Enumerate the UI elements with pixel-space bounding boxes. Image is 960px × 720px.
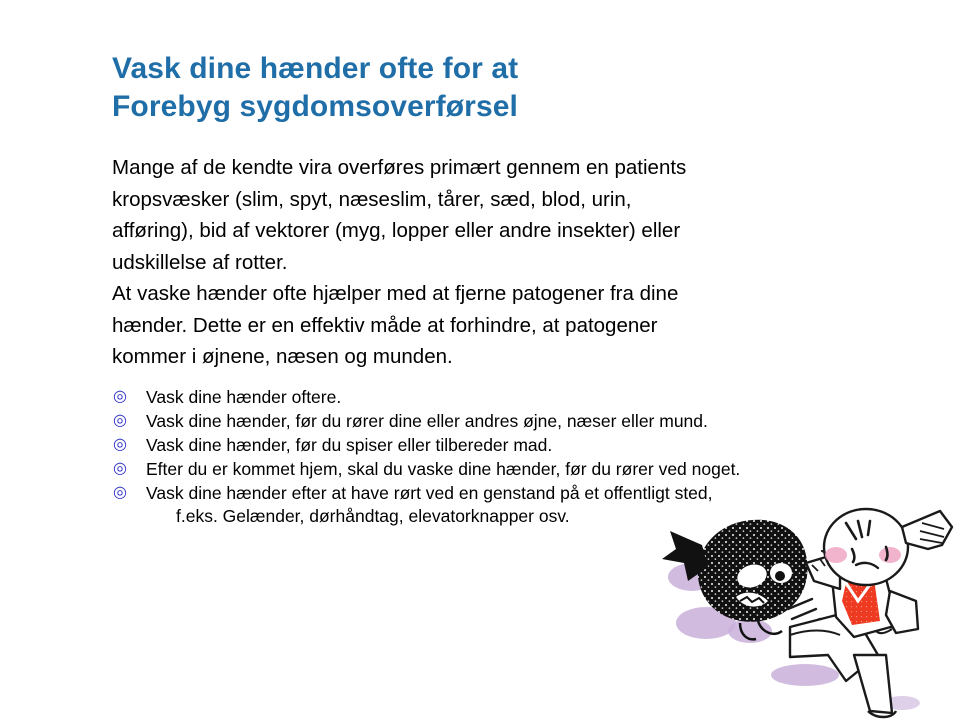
child-character	[790, 509, 952, 717]
paragraph-2-line-1: At vaske hænder ofte hjælper med at fjer…	[112, 278, 852, 310]
page-title-line-1: Vask dine hænder ofte for at	[112, 50, 872, 88]
paragraph-transmission: Mange af de kendte vira overføres primær…	[112, 152, 852, 278]
list-item-text: Vask dine hænder, før du rører dine elle…	[146, 411, 708, 431]
paragraph-1-line-4: udskillelse af rotter.	[112, 247, 852, 279]
paragraph-handwashing: At vaske hænder ofte hjælper med at fjer…	[112, 278, 852, 373]
child-kicking-germ-illustration	[640, 505, 960, 720]
slide-canvas: Vask dine hænder ofte for at Forebyg syg…	[0, 0, 960, 720]
list-item-text: Efter du er kommet hjem, skal du vaske d…	[146, 459, 740, 479]
list-item: ◎ Vask dine hænder oftere.	[113, 386, 913, 409]
paragraph-1-line-2: kropsvæsker (slim, spyt, næseslim, tårer…	[112, 184, 852, 216]
paragraph-1-line-1: Mange af de kendte vira overføres primær…	[112, 152, 852, 184]
paragraph-1-line-3: afføring), bid af vektorer (myg, lopper …	[112, 215, 852, 247]
list-item-text: Vask dine hænder, før du spiser eller ti…	[146, 435, 552, 455]
list-item: ◎ Efter du er kommet hjem, skal du vaske…	[113, 458, 913, 481]
paragraph-2-line-3: kommer i øjnene, næsen og munden.	[112, 341, 852, 373]
list-item: ◎ Vask dine hænder, før du spiser eller …	[113, 434, 913, 457]
list-item-text: Vask dine hænder efter at have rørt ved …	[146, 483, 713, 503]
body-text: Mange af de kendte vira overføres primær…	[112, 152, 852, 373]
paragraph-2-line-2: hænder. Dette er en effektiv måde at for…	[112, 310, 852, 342]
page-title-line-2: Forebyg sygdomsoverførsel	[112, 88, 872, 126]
double-circle-bullet-icon: ◎	[113, 433, 135, 456]
double-circle-bullet-icon: ◎	[113, 457, 135, 480]
double-circle-bullet-icon: ◎	[113, 409, 135, 432]
page-title: Vask dine hænder ofte for at Forebyg syg…	[112, 50, 872, 126]
list-item: ◎ Vask dine hænder, før du rører dine el…	[113, 410, 913, 433]
list-item-text: Vask dine hænder oftere.	[146, 387, 341, 407]
double-circle-bullet-icon: ◎	[113, 481, 135, 504]
double-circle-bullet-icon: ◎	[113, 385, 135, 408]
